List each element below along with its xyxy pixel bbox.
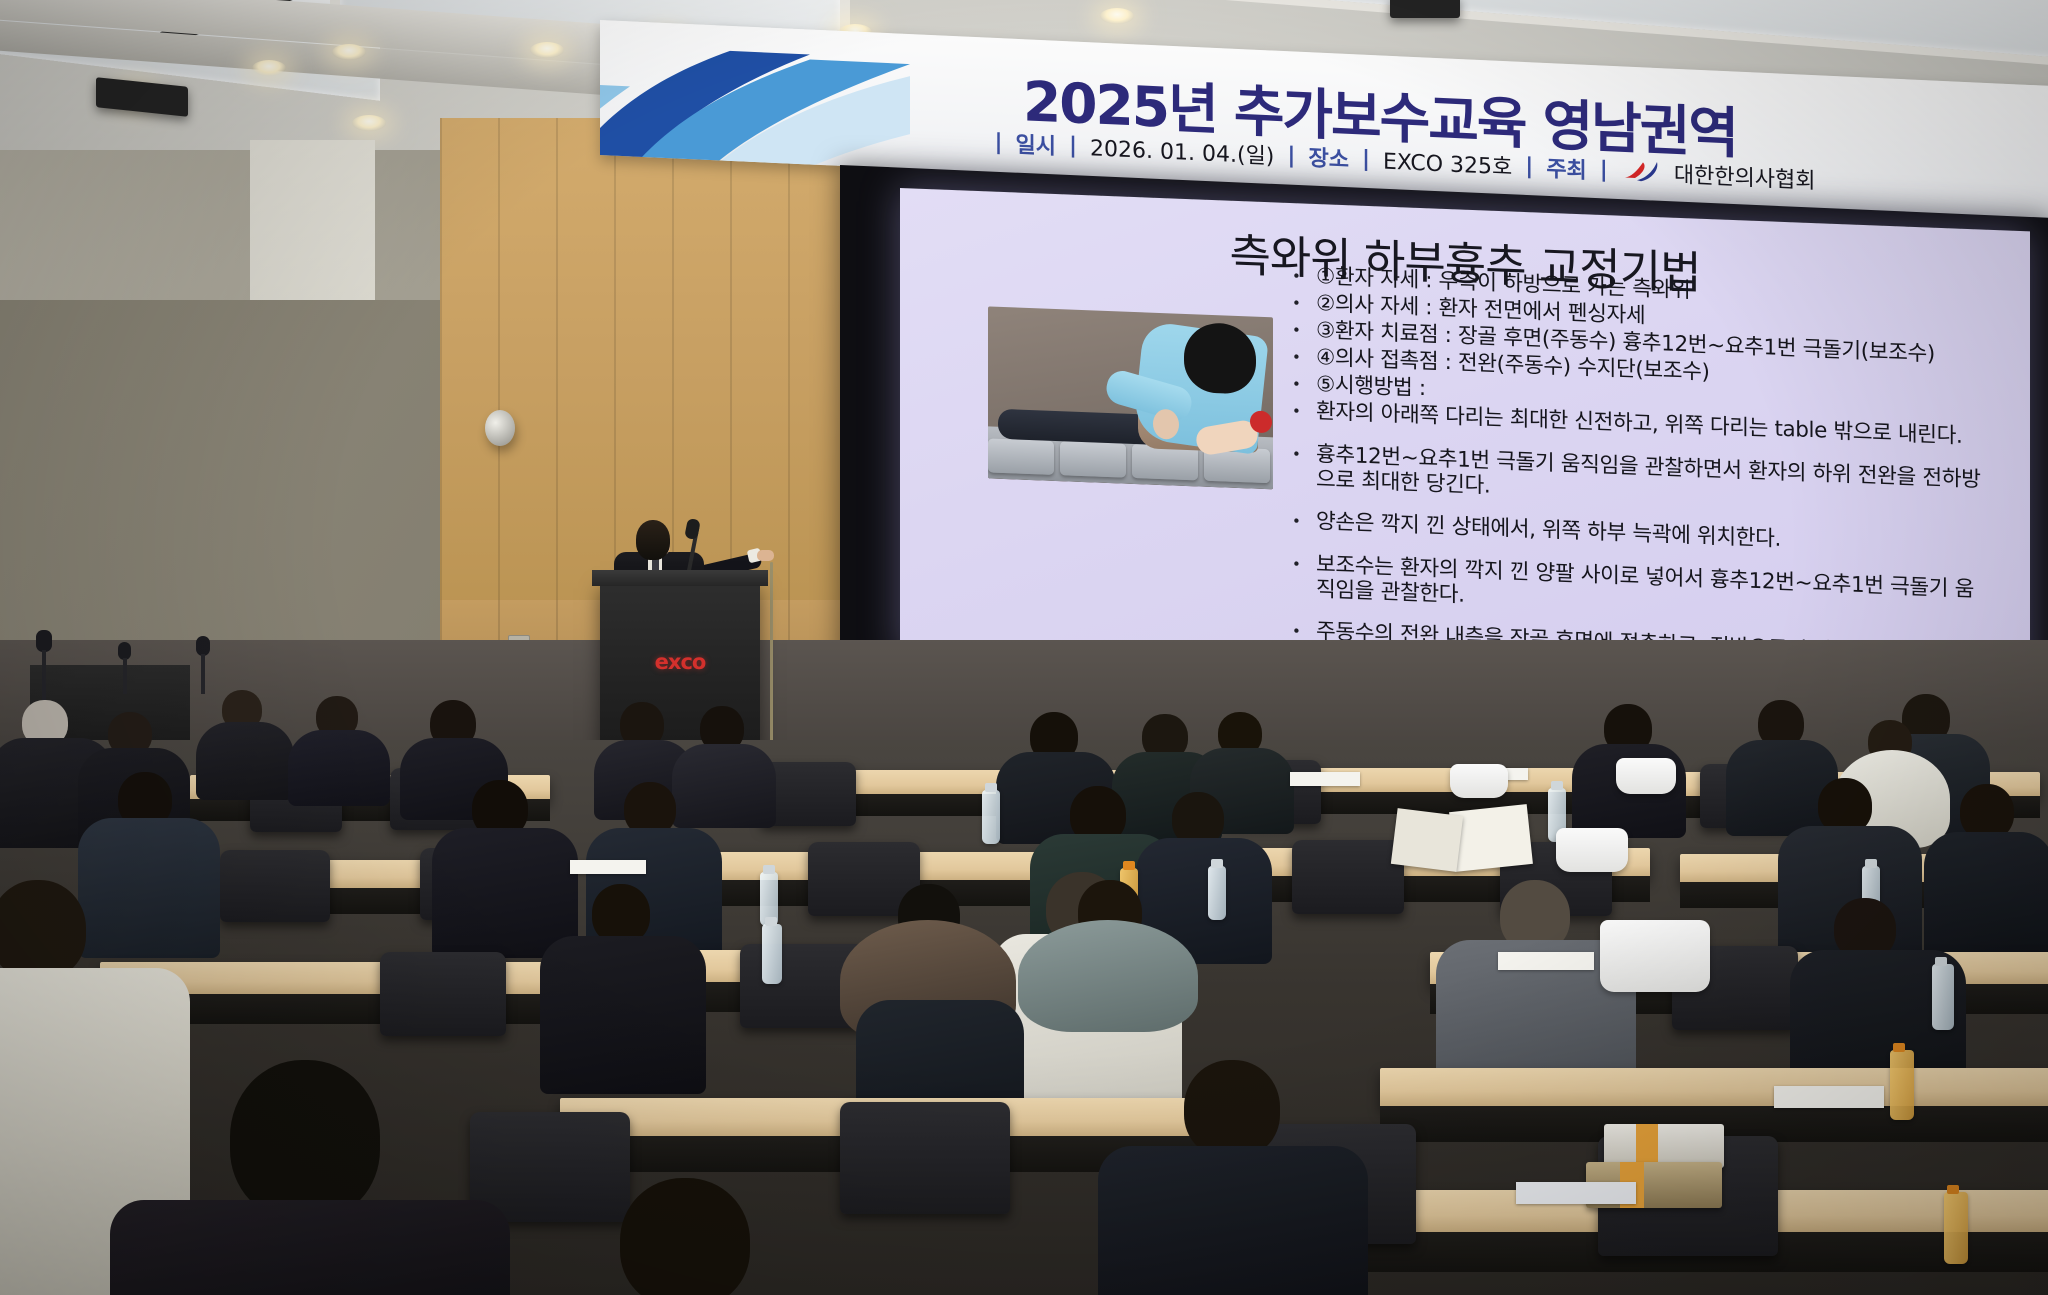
attendee-torso xyxy=(78,818,220,958)
downlight-icon xyxy=(252,60,286,76)
bullet-icon: • xyxy=(1292,371,1302,397)
paper-handout xyxy=(1516,1182,1636,1204)
presenter-hand xyxy=(757,550,774,561)
desk xyxy=(1380,1068,2048,1108)
water-bottle xyxy=(762,924,782,984)
bullet-icon: • xyxy=(1292,317,1302,343)
chair xyxy=(840,1102,1010,1214)
banner-place-label: 장소 xyxy=(1308,140,1348,174)
slide-photo-adjustment-technique xyxy=(988,306,1273,489)
photo-table-cushion xyxy=(1060,441,1126,478)
attendee-head xyxy=(592,884,650,944)
podium-logo: exco xyxy=(600,650,760,674)
side-microphone xyxy=(42,650,46,700)
downlight-icon xyxy=(352,115,386,131)
banner-host-value: 대한한의사협회 xyxy=(1674,157,1816,195)
photo-practitioner-hand xyxy=(1153,409,1179,440)
plastic-bag xyxy=(1600,920,1710,992)
bullet-icon: • xyxy=(1292,551,1302,601)
attendee-torso xyxy=(540,936,706,1094)
side-microphone-head xyxy=(36,630,52,652)
water-bottle xyxy=(1932,964,1954,1030)
downlight-icon xyxy=(1100,8,1134,24)
paper-handout xyxy=(1290,772,1360,786)
separator: | xyxy=(1600,157,1608,182)
wall-speaker-icon xyxy=(485,410,515,446)
side-microphone xyxy=(123,658,127,694)
bullet-text: 흉추12번~요추1번 극돌기 움직임을 관찰하면서 환자의 하위 전완을 전하방… xyxy=(1316,442,1992,518)
presentation-slide: 측와위 하부흉추 교정기법 •①환자 자세 : 우측이 하방으로 가는 측와위 … xyxy=(900,188,2030,699)
banner-place-value: EXCO 325호 xyxy=(1383,144,1512,182)
plastic-bag xyxy=(1616,758,1676,794)
chair xyxy=(380,952,506,1036)
attendee-torso xyxy=(1098,1146,1368,1295)
separator: | xyxy=(1287,143,1295,168)
bullet-icon: • xyxy=(1292,508,1302,534)
attendee-torso xyxy=(1924,832,2048,962)
photo-table-cushion xyxy=(988,438,1054,475)
bullet-text: 보조수는 환자의 깍지 낀 양팔 사이로 넣어서 흉추12번~요추1번 극돌기 … xyxy=(1316,552,1992,628)
banner-host-label: 주최 xyxy=(1546,151,1586,185)
juice-bottle xyxy=(1944,1192,1968,1264)
attendee-head xyxy=(1184,1060,1280,1158)
water-bottle xyxy=(1208,866,1226,920)
open-book xyxy=(1449,804,1533,872)
bullet-icon: • xyxy=(1292,263,1302,289)
bullet-icon: • xyxy=(1292,344,1302,370)
conference-hall-photo: 2025년 추가보수교육 영남권역 |일시| 2026. 01. 04.(일) … xyxy=(0,0,2048,1295)
downlight-icon xyxy=(530,42,564,58)
paper-handout xyxy=(1774,1086,1884,1108)
separator: | xyxy=(994,129,1002,154)
list-item: •보조수는 환자의 깍지 낀 양팔 사이로 넣어서 흉추12번~요추1번 극돌기… xyxy=(1292,551,1992,628)
water-bottle xyxy=(982,790,1000,844)
plastic-bag xyxy=(1556,828,1628,872)
podium-top xyxy=(592,570,768,586)
banner-date-label: 일시 xyxy=(1016,127,1056,161)
attendee-head xyxy=(620,1178,750,1295)
list-item: •흉추12번~요추1번 극돌기 움직임을 관찰하면서 환자의 하위 전완을 전하… xyxy=(1292,441,1992,518)
bullet-text: ⑤시행방법 : xyxy=(1316,372,1426,402)
bullet-icon: • xyxy=(1292,290,1302,316)
plastic-bag xyxy=(1450,764,1508,798)
separator: | xyxy=(1525,154,1533,179)
attendee-torso xyxy=(196,722,294,800)
attendee-head xyxy=(230,1060,380,1220)
open-book xyxy=(1391,808,1463,872)
separator: | xyxy=(1362,146,1370,171)
microphone-cable xyxy=(770,562,773,762)
association-logo-icon xyxy=(1621,157,1661,185)
bullet-icon: • xyxy=(1292,441,1302,491)
chair xyxy=(1292,840,1404,914)
side-microphone-head xyxy=(196,636,210,656)
photo-practitioner-head xyxy=(1184,322,1256,395)
photo-red-marker xyxy=(1250,410,1272,433)
slide-bullet-list: •①환자 자세 : 우측이 하방으로 가는 측와위 •②의사 자세 : 환자 전… xyxy=(1292,263,1992,699)
paper-handout xyxy=(570,860,646,874)
attendee-fur-hood xyxy=(1018,920,1198,1032)
bullet-icon: • xyxy=(1292,398,1302,424)
ceiling-speaker xyxy=(1390,0,1460,18)
downlight-icon xyxy=(332,44,366,60)
chair xyxy=(220,850,330,922)
side-microphone xyxy=(201,654,205,694)
presenter-head xyxy=(636,520,670,560)
attendee-torso xyxy=(288,730,390,806)
bullet-text: 양손은 깍지 낀 상태에서, 위쪽 하부 늑곽에 위치한다. xyxy=(1316,509,1781,553)
attendee-torso xyxy=(110,1200,510,1295)
attendee-torso xyxy=(672,744,776,828)
list-item: •양손은 깍지 낀 상태에서, 위쪽 하부 늑곽에 위치한다. xyxy=(1292,508,1992,561)
juice-bottle xyxy=(1890,1050,1914,1120)
attendee-torso xyxy=(432,828,578,958)
paper-handout xyxy=(1498,952,1594,970)
separator: | xyxy=(1069,133,1077,158)
attendee-head xyxy=(0,880,86,980)
